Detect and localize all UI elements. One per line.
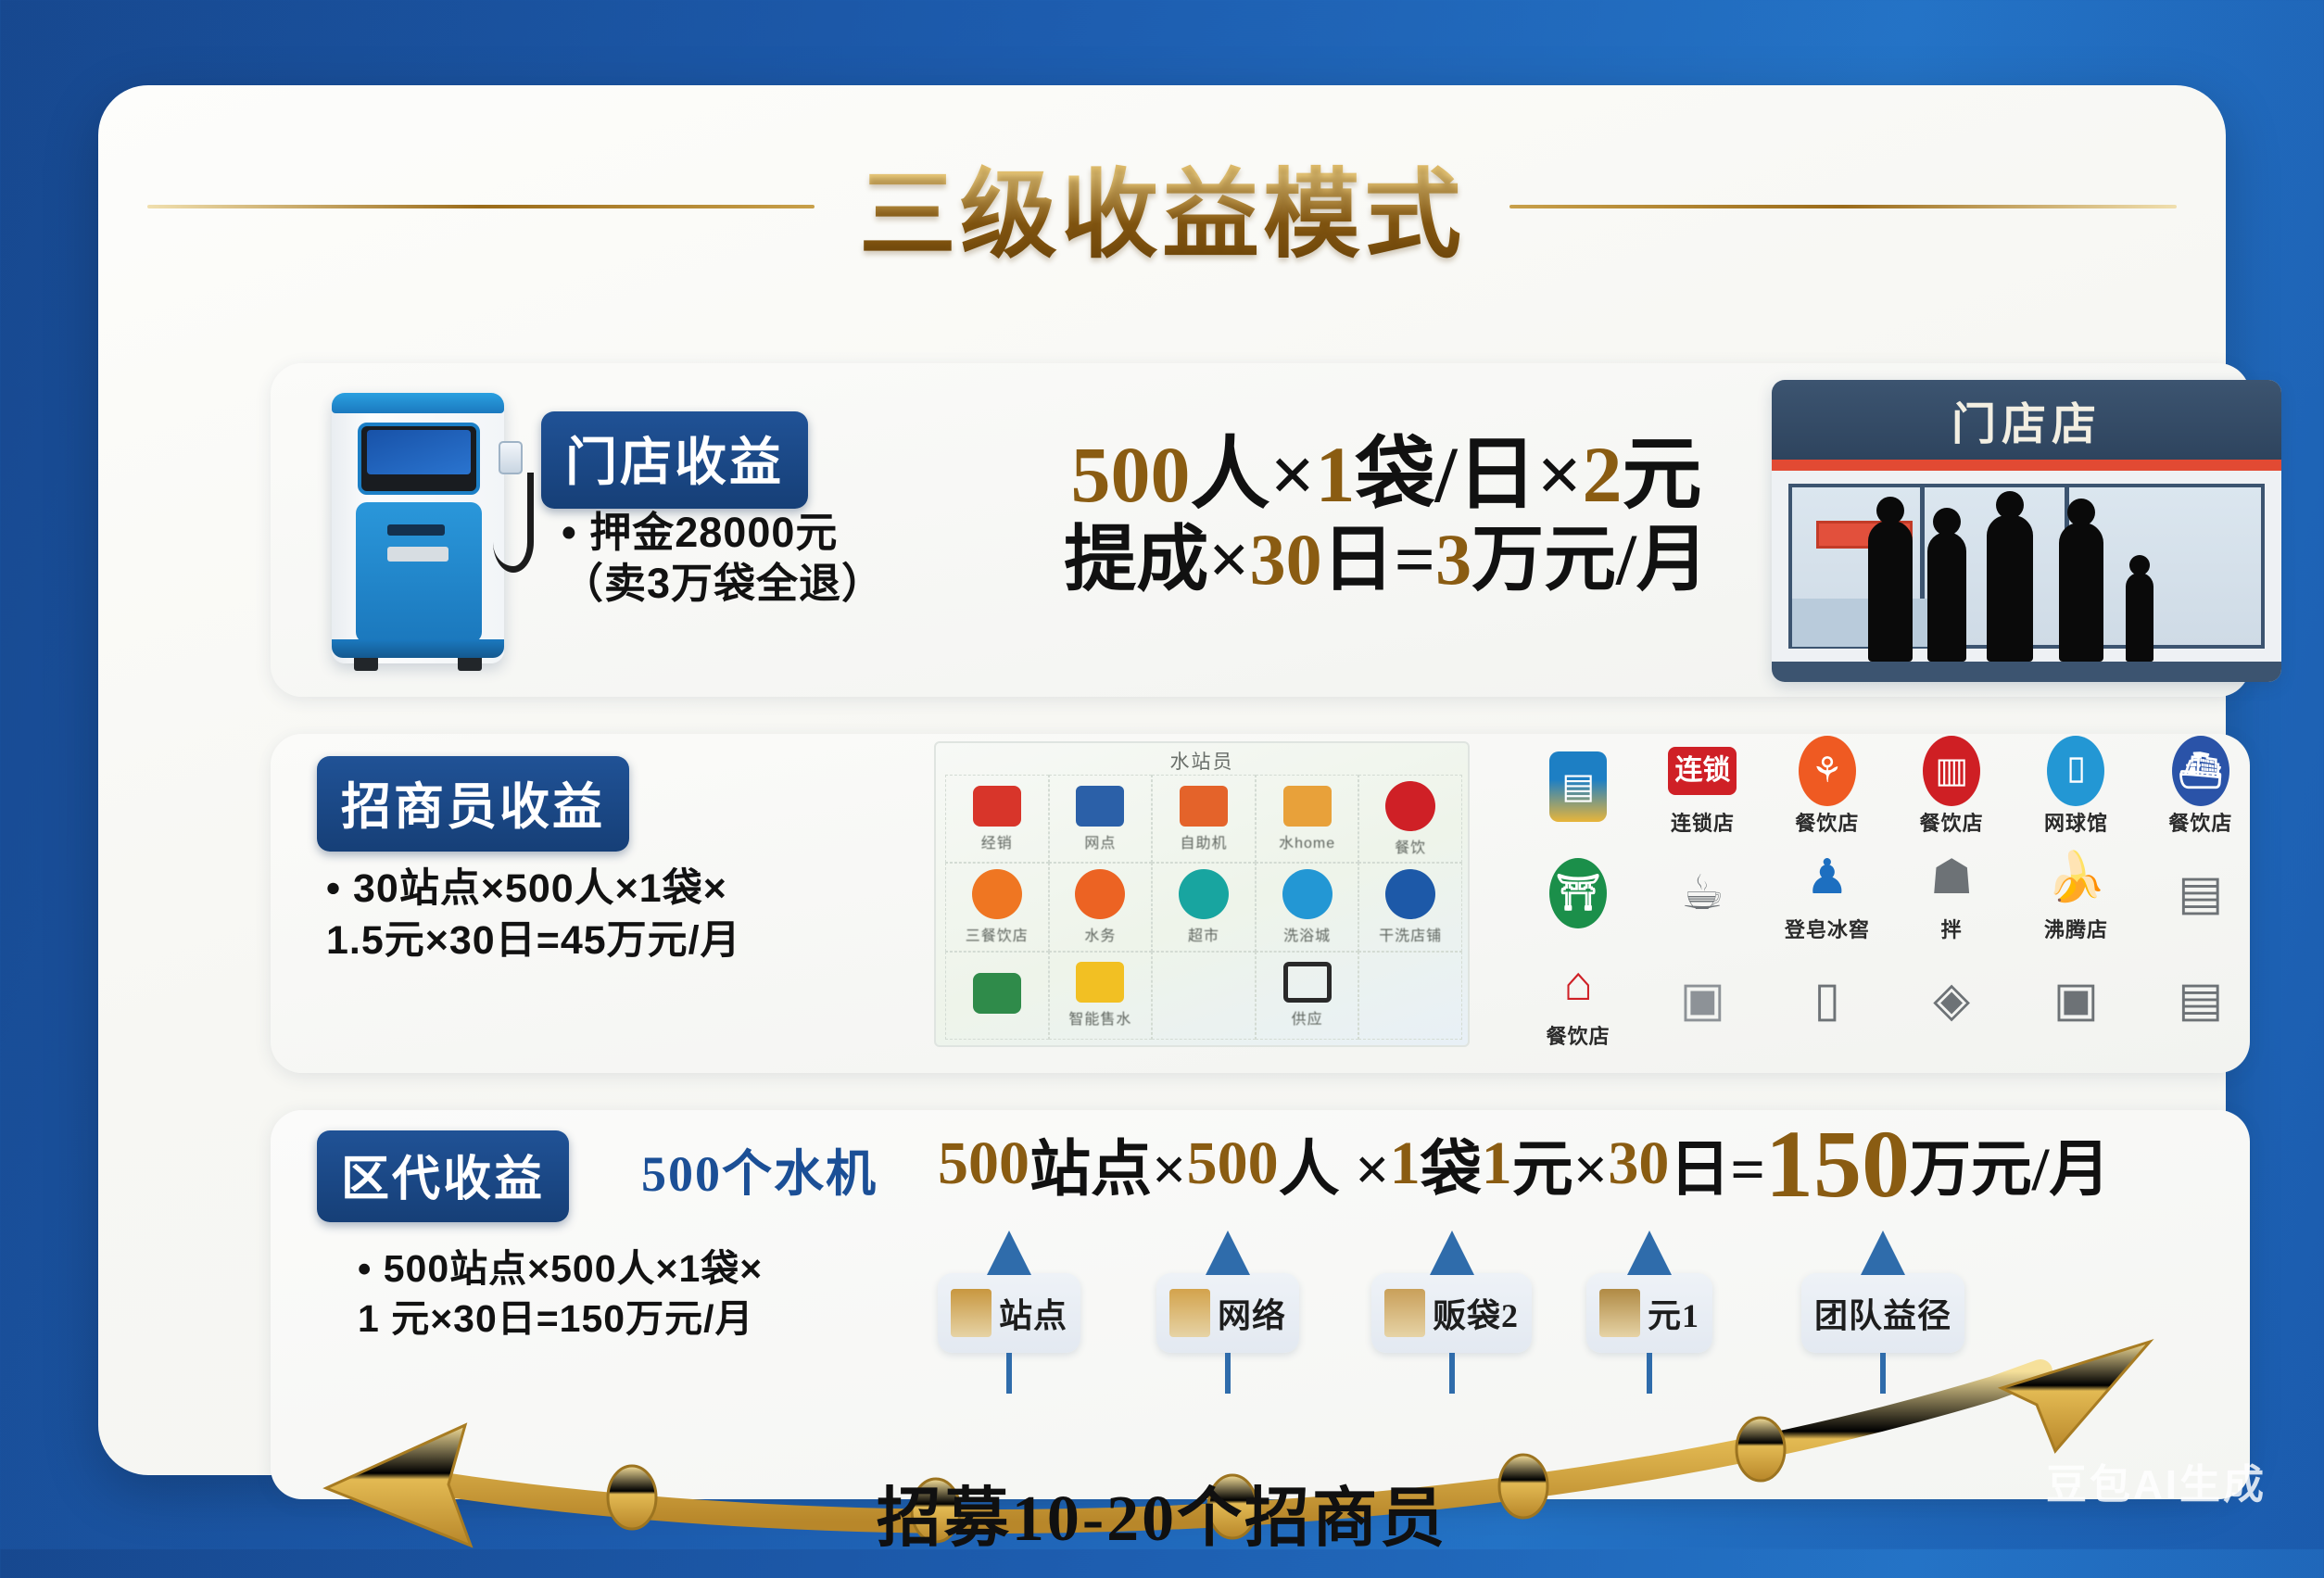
up-arrow-icon: [1627, 1231, 1672, 1275]
map-poi-cell: 干洗店铺: [1358, 863, 1462, 951]
row1-formula-line1: 500人×1袋/日×2元: [979, 430, 1794, 519]
shop-category-cell: ☕: [1640, 840, 1764, 947]
stage-chip[interactable]: 网络: [1156, 1273, 1299, 1353]
stage-chip[interactable]: 团队益径: [1801, 1273, 1964, 1353]
shop-category-cell: ⛩: [1516, 840, 1640, 947]
map-poi-label: 智能售水: [1068, 1006, 1131, 1029]
row3-subtitle: 500个水机: [641, 1132, 878, 1206]
row3-formula-segment: 万元/月: [1910, 1119, 2110, 1208]
row3-bullets: • 500站点×500人×1袋× 1 元×30日=150万元/月: [358, 1243, 763, 1344]
row2-bullet-1: • 30站点×500人×1袋×: [326, 864, 741, 915]
storefront-illustration: 门店店: [1772, 380, 2281, 682]
shop-category-label: 餐饮店: [1547, 1020, 1610, 1050]
row3-formula-segment: 日=: [1669, 1119, 1765, 1208]
shop-category-cell: ▤: [2139, 946, 2263, 1053]
map-poi-label: 自助机: [1180, 830, 1227, 852]
map-poi-cell: 洗浴城: [1256, 863, 1359, 951]
shop-category-cell: 连锁连锁店: [1640, 734, 1764, 840]
person-silhouette-5: [2126, 573, 2153, 662]
map-poi-icon: [1385, 781, 1435, 831]
page-title: 三级收益模式: [859, 136, 1465, 277]
shop-category-cell: 🍌沸腾店: [2014, 840, 2138, 947]
row1-formula-line2: 提成×30日=3万元/月: [979, 519, 1794, 600]
shop-category-label: 餐饮店: [2168, 807, 2232, 837]
row1-bullets: • 押金28000元 （卖3万袋全退）: [562, 508, 884, 610]
map-poi-label: 经销: [981, 830, 1013, 852]
row1-formula: 500人×1袋/日×2元 提成×30日=3万元/月: [979, 430, 1794, 600]
shop-category-cell: ▤: [1516, 734, 1640, 840]
formula-segment: 1: [1316, 430, 1356, 519]
chip-stem: [1880, 1353, 1886, 1394]
stage-chip-label: 网络: [1218, 1289, 1286, 1337]
person-silhouette-4: [2059, 523, 2103, 662]
shop-category-icon-grid: ▤连锁连锁店⚘餐饮店▥餐饮店⌷网球馆⛴餐饮店⛩☕♟登皂冰窖☗拌🍌沸腾店▤⌂餐饮店…: [1516, 734, 2263, 1053]
stage-chip[interactable]: 站点: [938, 1273, 1080, 1353]
shop-category-icon: ▥: [1917, 737, 1986, 805]
person-silhouette-2: [1927, 532, 1966, 662]
shop-category-label: 沸腾店: [2044, 914, 2108, 943]
map-poi-cell: 水home: [1256, 775, 1359, 863]
shop-category-icon: ▣: [2041, 966, 2110, 1034]
shop-category-icon: ▤: [1544, 752, 1612, 821]
shop-category-icon: ▤: [2166, 859, 2235, 928]
person-silhouette-3: [1987, 515, 2033, 662]
formula-segment: 人×: [1191, 430, 1316, 519]
shop-category-label: 网球馆: [2044, 807, 2108, 837]
map-poi-cell: 餐饮: [1358, 775, 1462, 863]
title-row: 三级收益模式: [98, 137, 2226, 276]
map-poi-label: 餐饮: [1395, 835, 1426, 857]
shop-category-cell: ▣: [1640, 946, 1764, 1053]
map-poi-cell: [945, 952, 1049, 1040]
badge-store-revenue: 门店收益: [541, 411, 808, 509]
map-poi-icon: [1075, 869, 1125, 919]
map-poi-cell: [1358, 952, 1462, 1040]
map-poi-label: 超市: [1188, 923, 1219, 945]
shop-category-cell: ⌷网球馆: [2014, 734, 2138, 840]
map-poi-icon: [1076, 962, 1124, 1003]
map-poi-cell: 智能售水: [1049, 952, 1153, 1040]
map-poi-cell: 水务: [1049, 863, 1153, 951]
storefront-sign-text: 门店店: [1951, 387, 2102, 452]
row2-badge-wrap: 招商员收益: [317, 756, 629, 852]
shop-category-label: 餐饮店: [1920, 807, 1984, 837]
stage-chip-label: 元1: [1648, 1289, 1699, 1337]
map-poi-grid: 经销网点自助机水home餐饮三餐饮店水务超市洗浴城干洗店铺智能售水供应: [945, 775, 1462, 1040]
row1-bullet-1: • 押金28000元: [562, 508, 884, 559]
shop-category-icon: 🍌: [2041, 843, 2110, 912]
formula-segment: 500: [1071, 430, 1191, 519]
map-poi-cell: 经销: [945, 775, 1049, 863]
watermark: 豆包AI生成: [2046, 1451, 2267, 1510]
shop-category-cell: ▯: [1765, 946, 1889, 1053]
machine-base: [332, 639, 504, 658]
formula-segment: 2: [1582, 430, 1622, 519]
poster-root: 三级收益模式 门店收益 • 押金28000元 （卖3万袋全退） 500人×1: [0, 0, 2324, 1549]
map-poi-cell: [1152, 952, 1256, 1040]
row1-bullet-2: （卖3万袋全退）: [562, 559, 884, 610]
stage-chip-icon: [1599, 1289, 1640, 1337]
machine-screen: [367, 430, 471, 474]
map-poi-label: 水home: [1279, 830, 1335, 852]
storefront-base: [1772, 662, 2281, 682]
map-poi-icon: [972, 869, 1022, 919]
formula-segment: 30: [1250, 519, 1322, 600]
stage-chip[interactable]: 贩袋2: [1371, 1273, 1532, 1353]
stage-chip-label: 团队益径: [1814, 1289, 1951, 1337]
row3-formula-segment: 30: [1608, 1129, 1669, 1199]
chip-stem: [1647, 1353, 1652, 1394]
shop-category-cell: ♟登皂冰窖: [1765, 840, 1889, 947]
shop-category-icon: ▣: [1668, 966, 1737, 1034]
shop-category-cell: ◈: [1889, 946, 2014, 1053]
up-arrow-icon: [987, 1231, 1031, 1275]
formula-segment: 万元/月: [1471, 519, 1709, 600]
stage-chip-icon: [1169, 1289, 1210, 1337]
map-poi-label: 水务: [1084, 923, 1116, 945]
shop-category-icon: ▯: [1793, 966, 1862, 1034]
map-poi-icon: [973, 786, 1021, 827]
shop-category-cell: ▣: [2014, 946, 2138, 1053]
machine-hose: [493, 473, 534, 573]
shop-category-cell: ⚘餐饮店: [1765, 734, 1889, 840]
formula-segment: 提成×: [1064, 519, 1249, 600]
shop-category-label: 连锁店: [1671, 807, 1735, 837]
map-poi-label: 洗浴城: [1283, 923, 1331, 945]
shop-category-cell: ▤: [2139, 840, 2263, 947]
stage-chip-row: 站点网络贩袋2元1团队益径: [938, 1273, 2031, 1403]
machine-indicator-panel: [387, 524, 445, 536]
storefront-sign: 门店店: [1772, 380, 2281, 460]
chip-stem: [1006, 1353, 1012, 1394]
up-arrow-icon: [1430, 1231, 1474, 1275]
row3-badge-wrap: 区代收益: [317, 1130, 569, 1222]
shop-category-icon: ▤: [2166, 966, 2235, 1034]
shop-category-label: 餐饮店: [1795, 807, 1859, 837]
stage-chip-icon: [951, 1289, 991, 1337]
shop-category-cell: ▥餐饮店: [1889, 734, 2014, 840]
chip-stem: [1225, 1353, 1231, 1394]
stage-chip-icon: [1384, 1289, 1425, 1337]
row3-formula-segment: 150: [1765, 1109, 1910, 1219]
title-rule-right: [1509, 205, 2177, 208]
row2-bullet-2: 1.5元×30日=45万元/月: [326, 915, 741, 967]
shop-category-icon: ☕: [1668, 859, 1737, 928]
water-vending-machine-illustration: [308, 384, 536, 678]
formula-segment: 袋/日×: [1356, 430, 1583, 519]
row1-badge-wrap: 门店收益: [541, 411, 808, 509]
row3-formula-segment: 人 ×: [1279, 1119, 1390, 1208]
shop-category-icon: ⌷: [2041, 737, 2110, 805]
shop-category-icon: ◈: [1917, 966, 1986, 1034]
map-poi-label: 供应: [1292, 1006, 1323, 1029]
title-rule-left: [147, 205, 815, 208]
map-poi-cell: 供应: [1256, 952, 1359, 1040]
machine-dispense-slot: [387, 547, 448, 562]
up-arrow-icon: [1206, 1231, 1250, 1275]
stage-chip[interactable]: 元1: [1586, 1273, 1712, 1353]
shop-category-label: 登皂冰窖: [1785, 914, 1870, 943]
shop-category-cell: ☗拌: [1889, 840, 2014, 947]
up-arrow-icon: [1861, 1231, 1905, 1275]
row3-formula: 500站点×500人 ×1袋1元×30日=150万元/月: [938, 1116, 2217, 1212]
shop-category-icon: ☗: [1917, 843, 1986, 912]
map-poi-cell: 网点: [1049, 775, 1153, 863]
row3-formula-segment: 500: [1187, 1129, 1279, 1199]
row3-formula-segment: 1: [1390, 1129, 1421, 1199]
map-poi-icon: [1180, 786, 1228, 827]
row3-formula-segment: 1: [1482, 1129, 1512, 1199]
shop-category-cell: ⛴餐饮店: [2139, 734, 2263, 840]
storefront-red-stripe: [1772, 460, 2281, 471]
shop-category-cell: ⌂餐饮店: [1516, 946, 1640, 1053]
map-poi-cell: 超市: [1152, 863, 1256, 951]
row3-formula-segment: 500: [938, 1129, 1029, 1199]
map-poi-label: 三餐饮店: [966, 923, 1029, 945]
formula-segment: 日=: [1322, 519, 1435, 600]
chip-stem: [1449, 1353, 1455, 1394]
shop-category-icon: ⛴: [2166, 737, 2235, 805]
row3-formula-segment: 站点×: [1029, 1119, 1187, 1208]
stage-chip-label: 站点: [999, 1289, 1067, 1337]
row3-bullet-1: • 500站点×500人×1袋×: [358, 1243, 763, 1294]
map-poi-icon: [1076, 786, 1124, 827]
map-poi-icon: [973, 973, 1021, 1014]
machine-nozzle: [499, 441, 523, 474]
shop-category-icon: 连锁: [1668, 737, 1737, 805]
formula-segment: 3: [1435, 519, 1471, 600]
map-poi-cell: 自助机: [1152, 775, 1256, 863]
map-poi-label: 干洗店铺: [1379, 923, 1442, 945]
bottom-cta: 招募10-20个招商员: [98, 1466, 2226, 1559]
stage-chip-label: 贩袋2: [1433, 1289, 1519, 1337]
map-poi-icon: [1179, 869, 1229, 919]
row3-formula-segment: 元×: [1512, 1119, 1609, 1208]
row3-bullet-2: 1 元×30日=150万元/月: [358, 1294, 763, 1344]
map-poi-icon: [1282, 869, 1333, 919]
row3-formula-segment: 袋: [1421, 1119, 1482, 1208]
machine-top-cap: [332, 393, 504, 413]
poi-map-illustration: 水站员 经销网点自助机水home餐饮三餐饮店水务超市洗浴城干洗店铺智能售水供应: [934, 741, 1470, 1047]
badge-region-revenue: 区代收益: [317, 1130, 569, 1222]
formula-segment: 元: [1622, 430, 1701, 519]
shop-category-icon: ⛩: [1544, 859, 1612, 928]
row2-bullets: • 30站点×500人×1袋× 1.5元×30日=45万元/月: [326, 864, 741, 967]
map-poi-cell: 三餐饮店: [945, 863, 1049, 951]
shop-category-icon: ♟: [1793, 843, 1862, 912]
map-poi-icon: [1283, 786, 1332, 827]
shop-category-label: 拌: [1941, 914, 1963, 943]
map-poi-label: 网点: [1084, 830, 1116, 852]
map-poi-icon: [1283, 962, 1332, 1003]
shop-category-icon: ⚘: [1793, 737, 1862, 805]
map-poi-icon: [1385, 869, 1435, 919]
machine-door: [356, 502, 482, 643]
person-silhouette-1: [1868, 521, 1913, 662]
shop-category-icon: ⌂: [1544, 950, 1612, 1018]
main-card: 三级收益模式 门店收益 • 押金28000元 （卖3万袋全退） 500人×1: [98, 85, 2226, 1475]
machine-feet: [350, 658, 486, 671]
badge-agent-revenue: 招商员收益: [317, 756, 629, 852]
map-title: 水站员: [936, 747, 1468, 775]
